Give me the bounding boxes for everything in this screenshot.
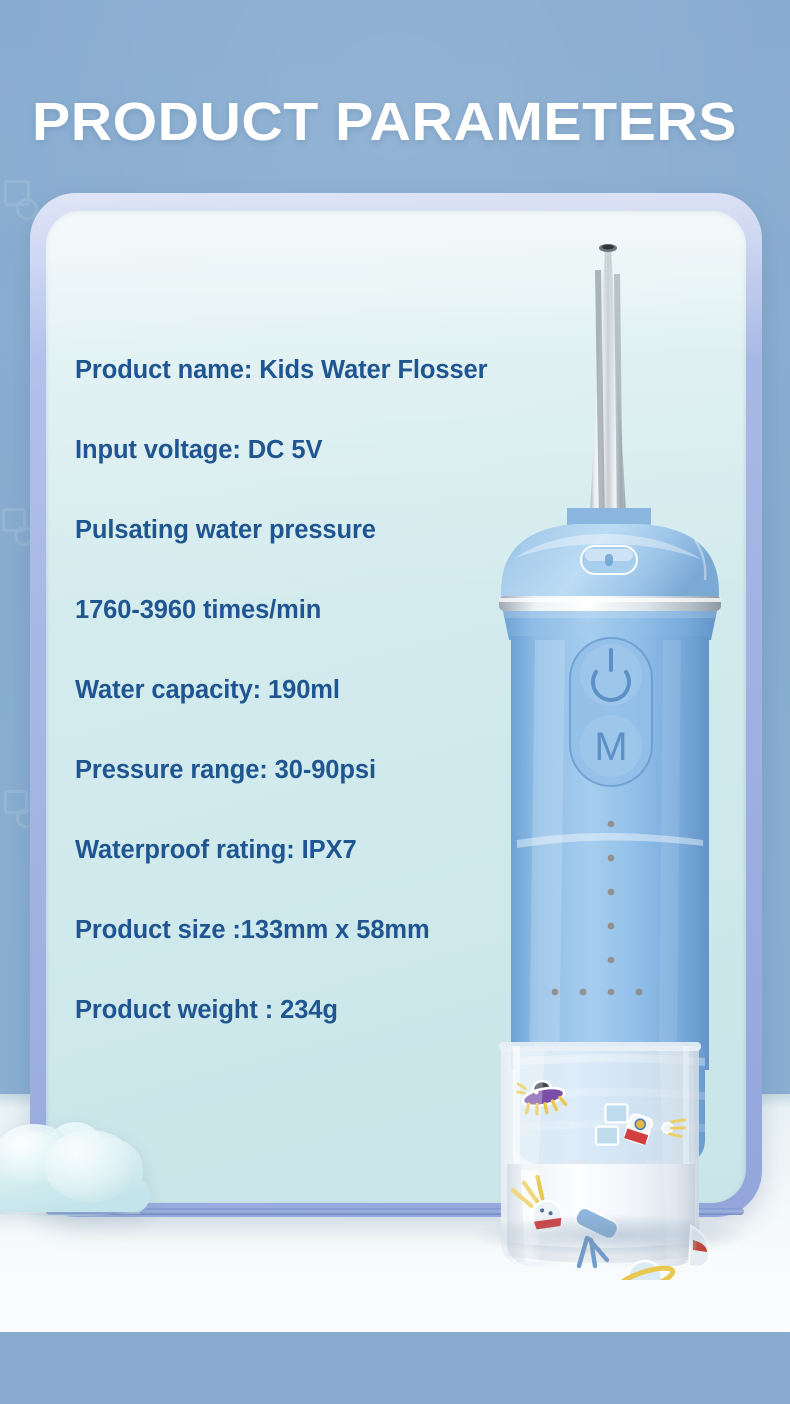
nozzle	[581, 244, 637, 533]
release-button-icon	[581, 546, 637, 574]
mode-button-label: M	[594, 725, 627, 769]
device-cap	[499, 508, 721, 640]
water-flosser-device: M	[455, 240, 765, 1280]
control-panel: M	[570, 638, 652, 786]
product-parameters-infographic: PRODUCT PARAMETERS Product name: Kids Wa…	[0, 0, 790, 1404]
cloud-prop	[0, 1108, 172, 1220]
power-button	[580, 644, 642, 706]
page-title: PRODUCT PARAMETERS	[32, 93, 737, 151]
device-illustration: M	[455, 240, 765, 1280]
device-shadow	[475, 1215, 745, 1255]
bottom-strip	[0, 1332, 790, 1404]
device-body: M	[511, 636, 709, 1070]
mode-button: M	[580, 715, 642, 777]
